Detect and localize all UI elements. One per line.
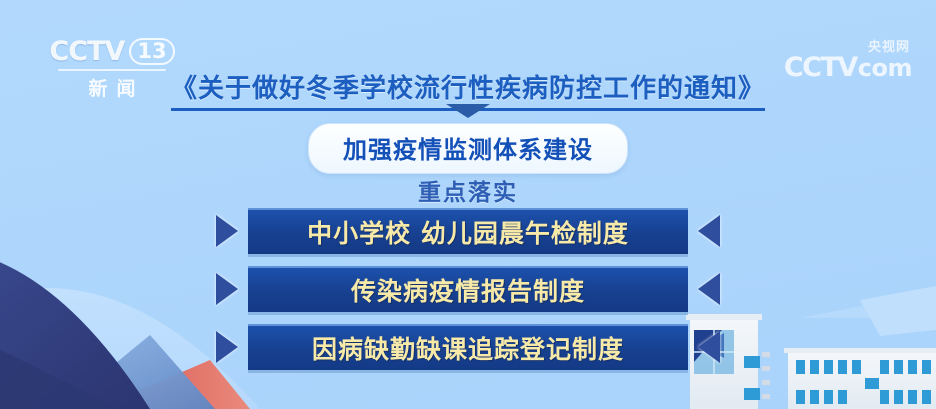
section-pill: 加强疫情监测体系建设 xyxy=(308,123,628,174)
measure-bar-row: 中小学校 幼儿园晨午检制度 xyxy=(0,208,936,266)
measure-bar: 传染病疫情报告制度 xyxy=(248,266,688,312)
chevron-down-icon xyxy=(446,104,490,118)
channel-number-badge: 13 xyxy=(129,38,174,65)
cctv-wordmark: CCTV xyxy=(49,36,124,67)
measure-bar-row: 因病缺勤缺课追踪登记制度 xyxy=(0,324,936,382)
triangle-left-icon xyxy=(698,215,720,247)
triangle-right-icon xyxy=(216,215,238,247)
measure-bar-list: 中小学校 幼儿园晨午检制度 传染病疫情报告制度 因病缺勤缺课追踪登记制度 xyxy=(0,208,936,382)
measure-bar-label: 传染病疫情报告制度 xyxy=(351,272,585,308)
triangle-right-icon xyxy=(216,331,238,363)
measure-bar-label: 中小学校 幼儿园晨午检制度 xyxy=(307,214,629,250)
measure-bar-label: 因病缺勤缺课追踪登记制度 xyxy=(312,330,624,366)
sub-caption: 重点落实 xyxy=(0,173,936,207)
measure-bar: 因病缺勤缺课追踪登记制度 xyxy=(248,324,688,370)
triangle-left-icon xyxy=(698,331,720,363)
sub-caption-text: 重点落实 xyxy=(418,180,518,206)
broadcast-graphic: CCTV 13 新闻 央视网 CCTV com 《关于做好冬季学校流行性疾病防控… xyxy=(0,0,936,409)
measure-bar: 中小学校 幼儿园晨午检制度 xyxy=(248,208,688,254)
cctv13-logo-row: CCTV 13 xyxy=(52,36,172,67)
measure-bar-row: 传染病疫情报告制度 xyxy=(0,266,936,324)
triangle-right-icon xyxy=(216,273,238,305)
section-pill-text: 加强疫情监测体系建设 xyxy=(343,136,593,164)
triangle-left-icon xyxy=(698,273,720,305)
